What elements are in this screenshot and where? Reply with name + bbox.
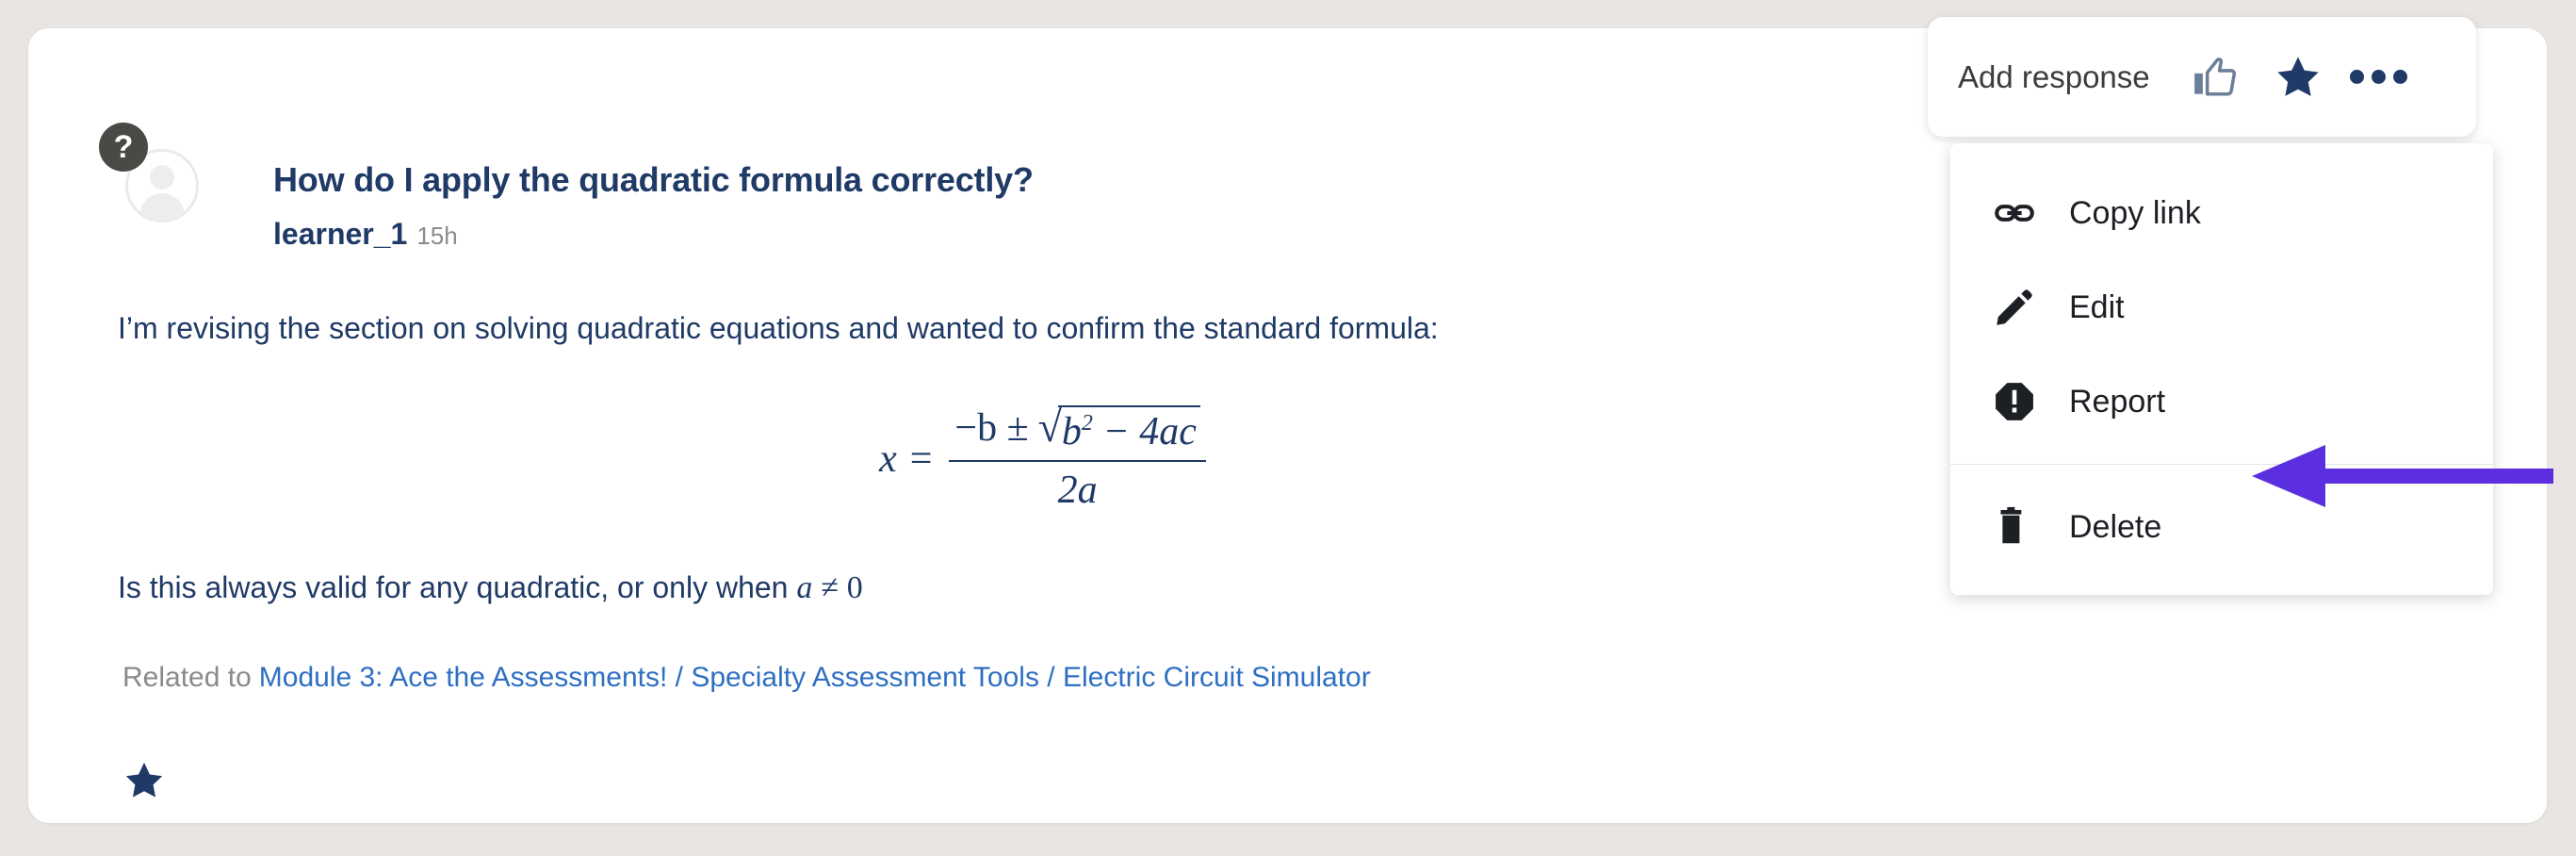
context-menu: Copy link Edit Report	[1950, 143, 2493, 595]
post-byline: learner_115h	[273, 217, 458, 252]
formula-radicand-exponent: 2	[1082, 411, 1093, 436]
formula-lhs: x	[879, 436, 897, 482]
question-math-operator: ≠	[821, 570, 839, 605]
ellipsis-dot	[2393, 70, 2407, 84]
trash-icon	[1990, 502, 2039, 551]
link-icon	[1990, 189, 2039, 238]
thumbs-up-icon[interactable]	[2182, 44, 2248, 110]
formula-radicand-rest: − 4ac	[1102, 410, 1196, 453]
menu-item-label: Report	[2069, 384, 2165, 420]
menu-item-delete[interactable]: Delete	[1950, 480, 2493, 574]
add-response-button[interactable]: Add response	[1958, 59, 2150, 95]
question-text-before: Is this always valid for any quadratic, …	[118, 570, 796, 604]
related-to-label: Related to	[122, 662, 252, 693]
formula-radicand: b2 − 4ac	[1058, 405, 1200, 454]
formula-denominator: 2a	[1058, 462, 1098, 513]
related-to-breadcrumb-link[interactable]: Module 3: Ace the Assessments! / Special…	[259, 662, 1371, 693]
star-filled-icon[interactable]	[122, 759, 166, 802]
pencil-icon	[1990, 283, 2039, 332]
menu-item-copy-link[interactable]: Copy link	[1950, 166, 2493, 260]
post-author[interactable]: learner_1	[273, 217, 407, 251]
star-filled-icon[interactable]	[2265, 44, 2331, 110]
ellipsis-dot	[2372, 70, 2386, 84]
question-mark-badge-icon: ?	[99, 123, 148, 172]
menu-item-edit[interactable]: Edit	[1950, 260, 2493, 354]
avatar-body-shape	[139, 193, 185, 222]
formula-numerator-prefix: −b ±	[954, 405, 1028, 451]
formula-radicand-base: b	[1062, 410, 1082, 453]
ellipsis-horizontal-icon[interactable]	[2346, 44, 2412, 110]
avatar-head-shape	[150, 165, 174, 189]
ellipsis-dot	[2350, 70, 2364, 84]
formula-equals: =	[910, 436, 933, 482]
page-title: How do I apply the quadratic formula cor…	[273, 160, 1034, 200]
post-question-line: Is this always valid for any quadratic, …	[118, 570, 863, 606]
menu-item-label: Edit	[2069, 289, 2125, 326]
related-to-line: Related toModule 3: Ace the Assessments!…	[122, 662, 1371, 694]
question-math-value: 0	[847, 570, 863, 605]
alert-octagon-icon	[1990, 377, 2039, 426]
formula-radical: √ b2 − 4ac	[1038, 405, 1200, 454]
post-timestamp: 15h	[416, 222, 457, 250]
formula-numerator: −b ± √ b2 − 4ac	[949, 405, 1205, 460]
post-body-intro: I’m revising the section on solving quad…	[118, 311, 1439, 346]
menu-divider	[1950, 464, 2493, 465]
formula-fraction: −b ± √ b2 − 4ac 2a	[949, 405, 1205, 513]
action-toolbar: Add response	[1928, 17, 2476, 137]
menu-item-report[interactable]: Report	[1950, 354, 2493, 449]
question-math-variable: a	[796, 570, 812, 605]
avatar[interactable]: ?	[99, 123, 203, 226]
menu-item-label: Copy link	[2069, 195, 2201, 232]
menu-item-label: Delete	[2069, 509, 2161, 546]
